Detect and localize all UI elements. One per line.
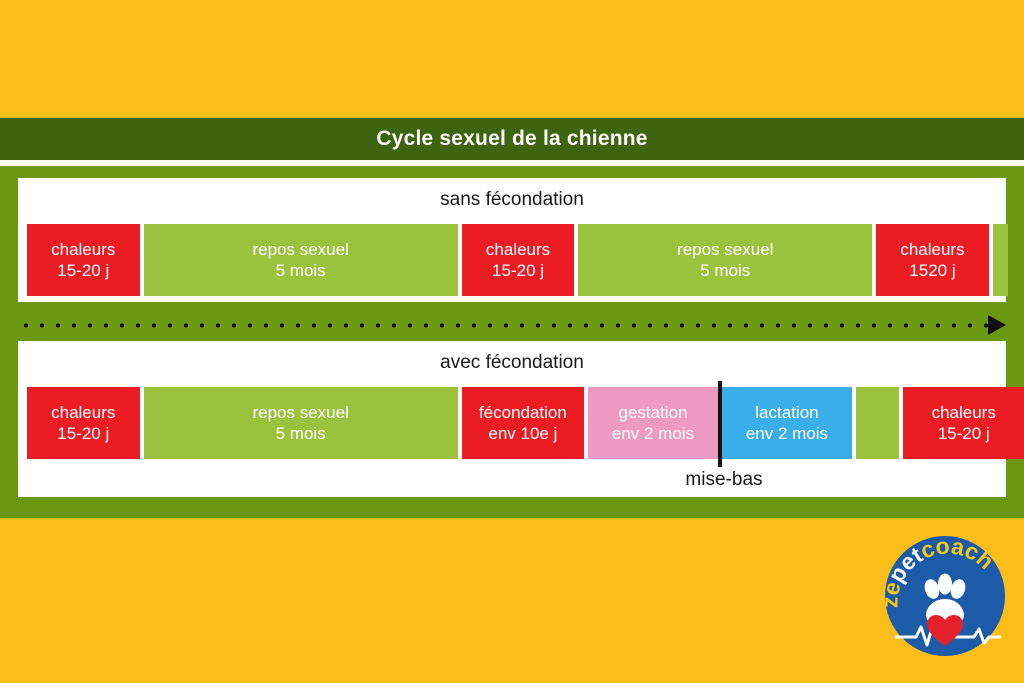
- segment-label: chaleurs: [486, 239, 550, 260]
- segment-duration: 15-20 j: [492, 260, 544, 281]
- title-bar: Cycle sexuel de la chienne: [0, 118, 1024, 160]
- segment-chaleurs: chaleurs15-20 j: [27, 224, 140, 296]
- segment-duration: 15-20 j: [938, 423, 990, 444]
- segment-gestation: gestationenv 2 mois: [588, 387, 718, 459]
- segment-label: lactation: [755, 402, 818, 423]
- segment-repos-sexuel: repos sexuel5 mois: [144, 387, 458, 459]
- segment-label: gestation: [618, 402, 687, 423]
- segment-chaleurs: chaleurs15-20 j: [903, 387, 1024, 459]
- page-title: Cycle sexuel de la chienne: [376, 127, 647, 151]
- segment-repos-sexuel: repos sexuel5 mois: [144, 224, 458, 296]
- segment-duration: 1520 j: [909, 260, 955, 281]
- segment-label: chaleurs: [932, 402, 996, 423]
- zepetcoach-logo: zepetcoach: [882, 533, 1008, 659]
- segment-label: repos sexuel: [677, 239, 773, 260]
- mise-bas-label: mise-bas: [685, 469, 762, 491]
- segment-chaleurs: chaleurs15-20 j: [27, 387, 140, 459]
- infographic-screen: Cycle sexuel de la chienne sans fécondat…: [0, 0, 1024, 683]
- segment-duration: env 2 mois: [746, 423, 828, 444]
- segment-label: chaleurs: [900, 239, 964, 260]
- segment-duration: 15-20 j: [57, 260, 109, 281]
- timeline-arrow: [18, 316, 1006, 334]
- diagram-panel: sans fécondation chaleurs15-20 jrepos se…: [0, 166, 1024, 518]
- segment-duration: env 2 mois: [612, 423, 694, 444]
- segment-repos-sexuel: [856, 387, 899, 459]
- segment-duration: env 10e j: [488, 423, 557, 444]
- track-avec-fecondation: chaleurs15-20 jrepos sexuel5 moisféconda…: [27, 387, 997, 459]
- row-heading-sans-fecondation: sans fécondation: [18, 178, 1006, 209]
- timeline-dots: [18, 322, 990, 329]
- segment-chaleurs: chaleurs15-20 j: [462, 224, 575, 296]
- segment-duration: 5 mois: [700, 260, 750, 281]
- segment-label: fécondation: [479, 402, 567, 423]
- segment-label: repos sexuel: [252, 239, 348, 260]
- arrow-right-icon: [988, 315, 1006, 335]
- segment-fecondation: fécondationenv 10e j: [462, 387, 584, 459]
- segment-chaleurs: chaleurs1520 j: [876, 224, 989, 296]
- segment-label: repos sexuel: [252, 402, 348, 423]
- track-sans-fecondation: chaleurs15-20 jrepos sexuel5 moischaleur…: [27, 224, 997, 296]
- row-sans-fecondation: sans fécondation chaleurs15-20 jrepos se…: [18, 178, 1006, 302]
- segment-repos-sexuel: repos sexuel5 mois: [578, 224, 872, 296]
- mise-bas-marker-line: [718, 381, 722, 467]
- row-avec-fecondation: avec fécondation chaleurs15-20 jrepos se…: [18, 341, 1006, 497]
- segment-label: chaleurs: [51, 402, 115, 423]
- segment-duration: 15-20 j: [57, 423, 109, 444]
- segment-duration: 5 mois: [276, 423, 326, 444]
- segment-duration: 5 mois: [276, 260, 326, 281]
- segment-label: chaleurs: [51, 239, 115, 260]
- row-heading-avec-fecondation: avec fécondation: [18, 341, 1006, 372]
- segment-repos-sexuel: [993, 224, 1009, 296]
- segment-lactation: lactationenv 2 mois: [722, 387, 852, 459]
